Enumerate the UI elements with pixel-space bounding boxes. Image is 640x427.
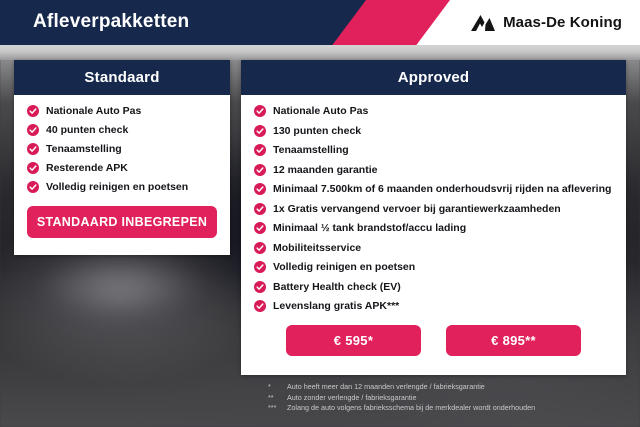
footnote-marker: *** xyxy=(268,403,281,414)
page-title: Afleverpakketten xyxy=(33,11,189,33)
list-item-label: Volledig reinigen en poetsen xyxy=(46,181,220,194)
check-circle-icon xyxy=(254,222,266,234)
check-circle-icon xyxy=(27,181,39,193)
footnote-row: ** Auto zonder verlengde / fabrieksgaran… xyxy=(268,393,628,404)
footnote-marker: ** xyxy=(268,393,281,404)
list-item-label: 130 punten check xyxy=(273,125,616,138)
list-item: 1x Gratis vervangend vervoer bij garanti… xyxy=(254,203,616,216)
check-circle-icon xyxy=(254,144,266,156)
list-item: 40 punten check xyxy=(27,124,220,137)
list-item: Resterende APK xyxy=(27,162,220,175)
background-light-streak xyxy=(40,255,200,315)
maas-de-koning-m-icon xyxy=(470,14,496,32)
list-item: 130 punten check xyxy=(254,125,616,138)
check-circle-icon xyxy=(27,162,39,174)
card-standaard-body: Nationale Auto Pas 40 punten check Tenaa… xyxy=(14,95,230,238)
check-circle-icon xyxy=(254,203,266,215)
card-approved: Approved Nationale Auto Pas 130 punten c… xyxy=(241,60,626,375)
list-item: Nationale Auto Pas xyxy=(254,105,616,118)
list-item-label: Mobiliteitsservice xyxy=(273,242,616,255)
footnote-text: Zolang de auto volgens fabrieksschema bi… xyxy=(287,403,628,414)
brand-name: Maas-De Koning xyxy=(503,14,622,31)
check-circle-icon xyxy=(254,105,266,117)
list-item-label: Battery Health check (EV) xyxy=(273,281,616,294)
list-item-label: Nationale Auto Pas xyxy=(46,105,220,118)
list-item-label: 1x Gratis vervangend vervoer bij garanti… xyxy=(273,203,616,216)
footnote-text: Auto zonder verlengde / fabrieksgarantie xyxy=(287,393,628,404)
footnote-row: *** Zolang de auto volgens fabrieksschem… xyxy=(268,403,628,414)
check-circle-icon xyxy=(254,281,266,293)
list-item: Volledig reinigen en poetsen xyxy=(254,261,616,274)
list-item: Tenaamstelling xyxy=(254,144,616,157)
card-standaard: Standaard Nationale Auto Pas 40 punten c… xyxy=(14,60,230,255)
list-item: Mobiliteitsservice xyxy=(254,242,616,255)
list-item-label: Minimaal 7.500km of 6 maanden onderhouds… xyxy=(273,183,616,196)
check-circle-icon xyxy=(254,183,266,195)
page-header: Afleverpakketten Maas-De Koning xyxy=(0,0,640,45)
list-item: Levenslang gratis APK*** xyxy=(254,300,616,313)
card-approved-body: Nationale Auto Pas 130 punten check Tena… xyxy=(241,95,626,356)
list-item-label: Resterende APK xyxy=(46,162,220,175)
card-approved-title: Approved xyxy=(241,60,626,95)
list-item: Minimaal 7.500km of 6 maanden onderhouds… xyxy=(254,183,616,196)
list-item-label: Tenaamstelling xyxy=(273,144,616,157)
list-item-label: Levenslang gratis APK*** xyxy=(273,300,616,313)
afleverpakketten-page: Afleverpakketten Maas-De Koning Standaar… xyxy=(0,0,640,427)
list-item-label: 40 punten check xyxy=(46,124,220,137)
price-button-row: € 595* € 895** xyxy=(241,325,626,356)
check-circle-icon xyxy=(27,105,39,117)
footnote-text: Auto heeft meer dan 12 maanden verlengde… xyxy=(287,382,628,393)
list-item-label: 12 maanden garantie xyxy=(273,164,616,177)
list-item-label: Volledig reinigen en poetsen xyxy=(273,261,616,274)
check-circle-icon xyxy=(254,164,266,176)
list-item: Minimaal ½ tank brandstof/accu lading xyxy=(254,222,616,235)
list-item-label: Minimaal ½ tank brandstof/accu lading xyxy=(273,222,616,235)
card-standaard-title: Standaard xyxy=(14,60,230,95)
list-item-label: Tenaamstelling xyxy=(46,143,220,156)
list-item: Tenaamstelling xyxy=(27,143,220,156)
background-top-band xyxy=(0,44,640,60)
list-item: Nationale Auto Pas xyxy=(27,105,220,118)
standaard-feature-list: Nationale Auto Pas 40 punten check Tenaa… xyxy=(14,105,230,194)
footnote-marker: * xyxy=(268,382,281,393)
brand-logo: Maas-De Koning xyxy=(470,0,622,45)
check-circle-icon xyxy=(27,124,39,136)
standaard-inbegrepen-button[interactable]: STANDAARD INBEGREPEN xyxy=(27,206,217,238)
list-item-label: Nationale Auto Pas xyxy=(273,105,616,118)
list-item: 12 maanden garantie xyxy=(254,164,616,177)
list-item: Volledig reinigen en poetsen xyxy=(27,181,220,194)
price-button-895[interactable]: € 895** xyxy=(446,325,581,356)
check-circle-icon xyxy=(254,300,266,312)
footnotes: * Auto heeft meer dan 12 maanden verleng… xyxy=(268,382,628,414)
approved-feature-list: Nationale Auto Pas 130 punten check Tena… xyxy=(241,105,626,313)
check-circle-icon xyxy=(254,242,266,254)
price-button-595[interactable]: € 595* xyxy=(286,325,421,356)
check-circle-icon xyxy=(254,125,266,137)
check-circle-icon xyxy=(254,261,266,273)
list-item: Battery Health check (EV) xyxy=(254,281,616,294)
check-circle-icon xyxy=(27,143,39,155)
footnote-row: * Auto heeft meer dan 12 maanden verleng… xyxy=(268,382,628,393)
